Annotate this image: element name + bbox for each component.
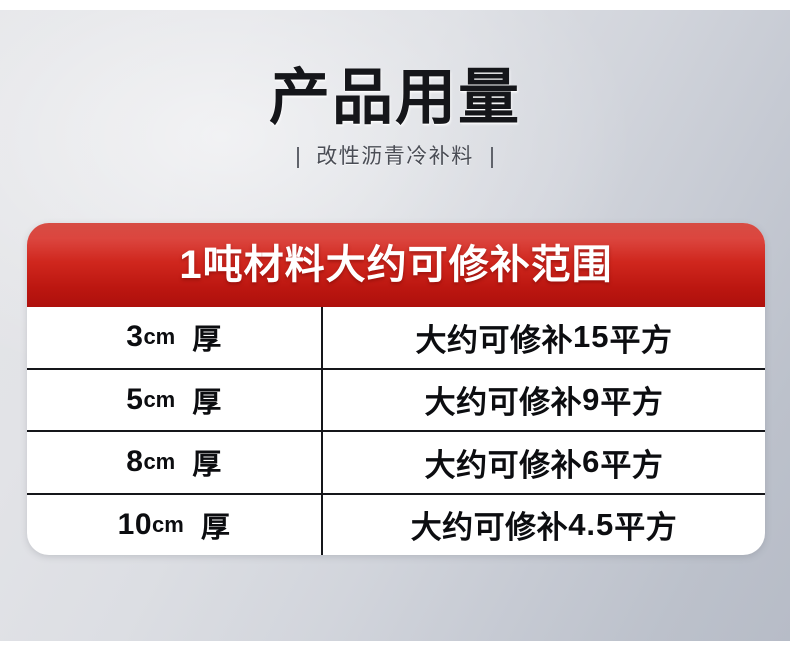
heading-block: 产品用量 改性沥青冷补料 — [0, 62, 790, 169]
table-row: 3cm厚 大约可修补15平方 — [27, 307, 765, 370]
coverage-suffix: 平方 — [600, 440, 663, 485]
thickness-value: 5 — [126, 383, 143, 417]
coverage-prefix: 大约可修补 — [425, 440, 583, 485]
thickness-unit: cm — [143, 324, 175, 350]
usage-table-header-title: 1吨材料大约可修补范围 — [179, 242, 612, 288]
thickness-cell: 8cm厚 — [27, 432, 323, 493]
subtitle-row: 改性沥青冷补料 — [0, 145, 790, 169]
thickness-word: 厚 — [201, 504, 231, 546]
coverage-prefix: 大约可修补 — [425, 377, 583, 422]
coverage-value: 4.5 — [568, 507, 614, 543]
coverage-cell: 大约可修补9平方 — [323, 370, 765, 431]
usage-table-body: 3cm厚 大约可修补15平方 5cm厚 大约可修补9平方 8cm厚 — [27, 307, 765, 555]
thickness-value: 3 — [126, 320, 143, 354]
coverage-suffix: 平方 — [614, 502, 677, 547]
usage-table-card: 1吨材料大约可修补范围 3cm厚 大约可修补15平方 5cm厚 大约可修补9平方 — [27, 223, 765, 555]
subtitle-left-bar-icon — [297, 147, 299, 168]
coverage-suffix: 平方 — [600, 377, 663, 422]
coverage-cell: 大约可修补15平方 — [323, 307, 765, 368]
thickness-word: 厚 — [192, 316, 222, 358]
coverage-prefix: 大约可修补 — [416, 315, 574, 360]
coverage-value: 6 — [582, 444, 600, 480]
thickness-value: 8 — [126, 445, 143, 479]
thickness-unit: cm — [143, 449, 175, 475]
product-usage-infographic: 产品用量 改性沥青冷补料 1吨材料大约可修补范围 3cm厚 大约可修补15平方 … — [0, 0, 790, 651]
thickness-unit: cm — [143, 387, 175, 413]
coverage-suffix: 平方 — [609, 315, 672, 360]
thickness-unit: cm — [152, 512, 184, 538]
usage-table-header: 1吨材料大约可修补范围 — [27, 223, 765, 307]
table-row: 8cm厚 大约可修补6平方 — [27, 432, 765, 495]
coverage-cell: 大约可修补4.5平方 — [323, 495, 765, 556]
coverage-prefix: 大约可修补 — [411, 502, 569, 547]
table-row: 5cm厚 大约可修补9平方 — [27, 370, 765, 433]
subtitle-right-bar-icon — [491, 147, 493, 168]
thickness-value: 10 — [118, 508, 152, 542]
coverage-value: 15 — [573, 319, 609, 355]
thickness-word: 厚 — [192, 379, 222, 421]
coverage-cell: 大约可修补6平方 — [323, 432, 765, 493]
coverage-value: 9 — [582, 382, 600, 418]
page-subtitle: 改性沥青冷补料 — [316, 145, 474, 169]
table-row: 10cm厚 大约可修补4.5平方 — [27, 495, 765, 556]
thickness-cell: 10cm厚 — [27, 495, 323, 556]
page-title: 产品用量 — [0, 62, 790, 132]
thickness-cell: 3cm厚 — [27, 307, 323, 368]
thickness-cell: 5cm厚 — [27, 370, 323, 431]
thickness-word: 厚 — [192, 441, 222, 483]
